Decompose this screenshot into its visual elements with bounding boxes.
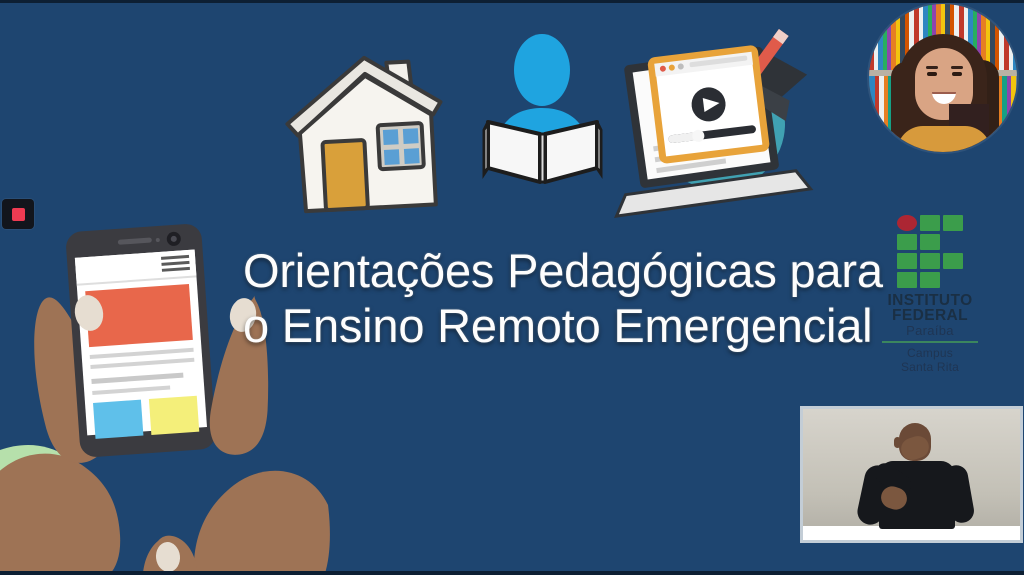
person-reading-book-icon xyxy=(480,22,605,197)
presenter-eye-right xyxy=(952,72,962,76)
logo-cell-red-circle xyxy=(897,215,917,231)
slide-title: Orientações Pedagógicas para o Ensino Re… xyxy=(243,243,883,353)
logo-cell-empty xyxy=(943,272,963,288)
logo-text-state: Paraíba xyxy=(876,323,984,338)
presenter-eye-left xyxy=(927,72,937,76)
logo-cell xyxy=(897,253,917,269)
logo-cell xyxy=(920,215,940,231)
sign-language-interpreter-window[interactable] xyxy=(800,406,1023,543)
logo-divider xyxy=(882,341,978,343)
logo-cell xyxy=(920,234,940,250)
presenter-webcam-bubble[interactable] xyxy=(869,4,1017,152)
logo-cell xyxy=(897,272,917,288)
presenter-brow-right xyxy=(951,66,963,69)
logo-text-instituto: INSTITUTO xyxy=(876,293,984,308)
logo-cell xyxy=(897,234,917,250)
ifpb-logo: INSTITUTO FEDERAL Paraíba Campus Santa R… xyxy=(876,215,984,375)
screen-capture: Orientações Pedagógicas para o Ensino Re… xyxy=(0,0,1024,575)
record-stop-icon xyxy=(12,208,25,221)
logo-text-campus: Campus xyxy=(876,346,984,360)
logo-cell-empty xyxy=(943,234,963,250)
slide-title-line-1: Orientações Pedagógicas para xyxy=(243,244,883,297)
letterbox-bar-top xyxy=(0,0,1024,3)
logo-cell xyxy=(943,253,963,269)
presenter-body xyxy=(897,126,991,152)
logo-cell xyxy=(943,215,963,231)
logo-text-federal: FEDERAL xyxy=(876,308,984,323)
house-icon xyxy=(278,44,452,222)
logo-cell xyxy=(920,272,940,288)
slide-title-line-2: o Ensino Remoto Emergencial xyxy=(243,298,883,353)
ifpb-logo-mark xyxy=(894,215,966,289)
presenter-brow-left xyxy=(926,66,938,69)
letterbox-bar-bottom xyxy=(0,571,1024,575)
logo-cell xyxy=(920,253,940,269)
logo-text-campus-name: Santa Rita xyxy=(876,360,984,374)
elearning-laptop-icon xyxy=(615,32,810,222)
recording-indicator[interactable] xyxy=(2,199,34,229)
